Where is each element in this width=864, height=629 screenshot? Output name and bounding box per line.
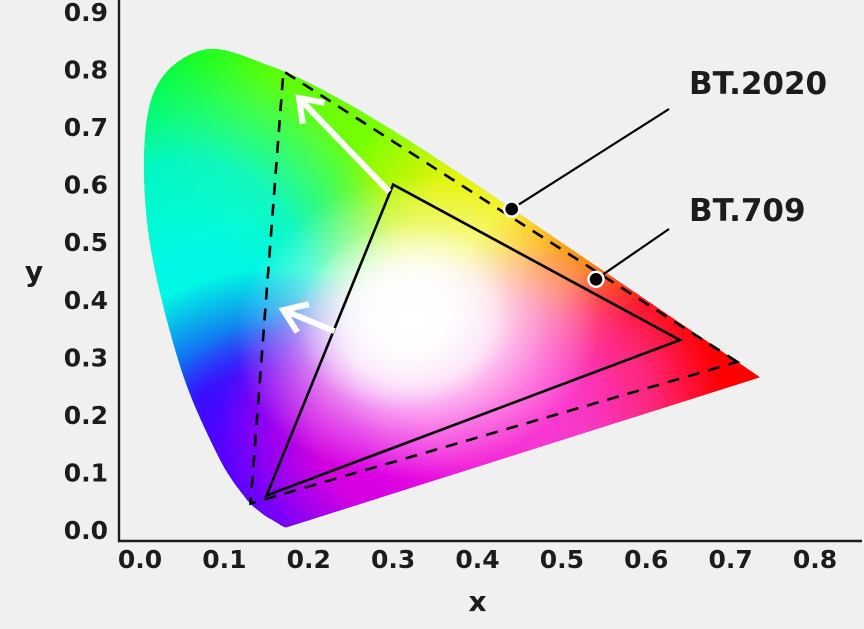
bt2020-label: BT.2020 (689, 66, 827, 102)
x-axis-title: x (468, 585, 486, 618)
x-tick-0.6: 0.6 (624, 545, 668, 574)
y-tick-0.4: 0.4 (64, 286, 108, 315)
cie-chromaticity-diagram: 0.00.10.20.30.40.50.60.70.8 0.00.10.20.3… (0, 0, 864, 629)
y-tick-0.2: 0.2 (64, 401, 108, 430)
x-tick-0.1: 0.1 (202, 545, 246, 574)
y-tick-0.9: 0.9 (64, 0, 108, 27)
y-tick-0.8: 0.8 (64, 56, 108, 85)
bt709-label: BT.709 (689, 193, 806, 229)
x-tick-0.4: 0.4 (455, 545, 499, 574)
x-tick-0.2: 0.2 (287, 545, 331, 574)
y-tick-0.6: 0.6 (64, 171, 108, 200)
x-axis-tick-labels: 0.00.10.20.30.40.50.60.70.8 (118, 545, 837, 574)
bt2020-marker-dot (504, 202, 519, 217)
y-tick-0.7: 0.7 (64, 113, 108, 142)
x-tick-0.3: 0.3 (371, 545, 415, 574)
x-tick-0.7: 0.7 (708, 545, 752, 574)
bt709-marker-dot (589, 272, 604, 287)
y-tick-0.0: 0.0 (64, 516, 108, 545)
y-axis-title: y (25, 255, 43, 288)
y-tick-0.3: 0.3 (64, 343, 108, 372)
x-tick-0.8: 0.8 (793, 545, 837, 574)
x-tick-0.0: 0.0 (118, 545, 162, 574)
x-tick-0.5: 0.5 (540, 545, 584, 574)
y-tick-0.1: 0.1 (64, 458, 108, 487)
y-tick-0.5: 0.5 (64, 228, 108, 257)
